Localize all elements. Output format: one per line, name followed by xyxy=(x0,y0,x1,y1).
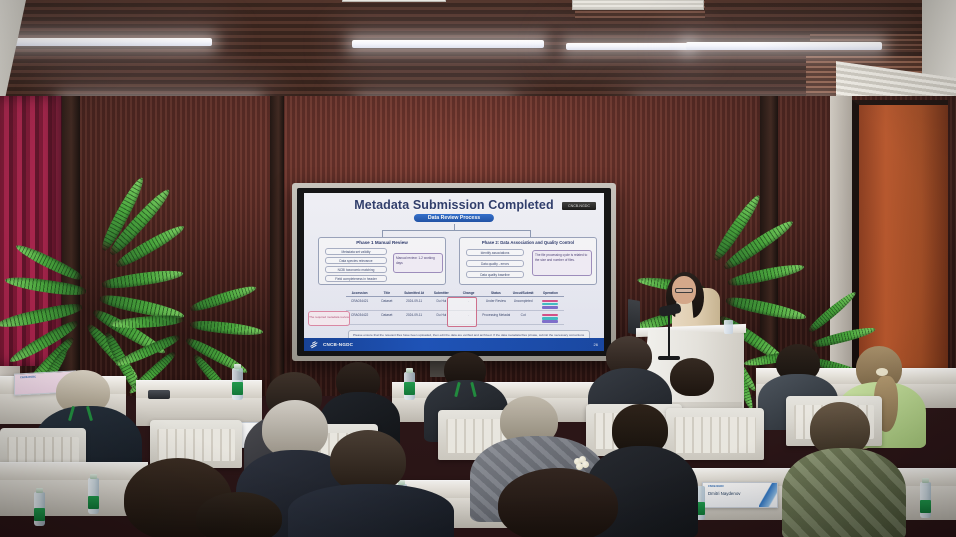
action-badge[interactable] xyxy=(542,320,558,323)
table-cell: Processing Metadata xyxy=(482,311,509,325)
slide-phase2-item: Data quality - errors xyxy=(466,260,524,267)
presentation-display[interactable]: Metadata Submission Completed CNCB-NGDC … xyxy=(292,183,616,361)
attendee-shoulders xyxy=(288,484,454,537)
action-badge[interactable] xyxy=(542,314,558,317)
slide-phase2-item: Data quality baseline xyxy=(466,271,524,278)
table-cell: 2024-09-11 xyxy=(401,297,428,311)
water-bottle-cap xyxy=(234,364,241,369)
lanyard xyxy=(70,406,92,420)
slide-phase2-heading: Phase 2: Data Association and Quality Co… xyxy=(460,240,596,245)
table-col-header: Submitter xyxy=(428,289,455,297)
table-cell: Cut xyxy=(510,311,537,325)
water-bottle-cap xyxy=(90,474,97,479)
namecard-org: CNCB-NGDC xyxy=(20,375,36,379)
table-col-header: Accession xyxy=(346,289,373,297)
slide-phase1-note: Manual review: 1-2 working days xyxy=(393,253,443,273)
slide-phase1-heading: Phase 1 Manual Review xyxy=(319,240,445,245)
slide-canvas: Metadata Submission Completed CNCB-NGDC … xyxy=(304,193,604,351)
table-cell-actions xyxy=(537,311,564,325)
row-action-badges[interactable] xyxy=(537,313,564,323)
ceiling-light xyxy=(0,38,212,46)
slide-phase1-item: Field completeness in header xyxy=(325,275,387,282)
table-cell: Dataset xyxy=(373,311,400,325)
water-glass xyxy=(724,320,733,334)
slide-section-pill: Data Review Process xyxy=(414,214,494,222)
hair-tie xyxy=(876,368,888,376)
namecard-org: CNCB-NGDC xyxy=(708,485,724,488)
eyeglasses-icon xyxy=(675,288,693,293)
action-badge[interactable] xyxy=(542,300,558,303)
slide-phase1-box: Phase 1 Manual Review Metadata set valid… xyxy=(318,237,446,285)
slide-phase1-item: Metadata set validity xyxy=(325,248,387,255)
slide-connector xyxy=(382,230,530,231)
water-bottle-cap xyxy=(36,488,43,493)
slide-phase2-box: Phase 2: Data Association and Quality Co… xyxy=(459,237,597,285)
slide-title-tag: CNCB-NGDC xyxy=(562,202,596,210)
water-bottle-cap xyxy=(922,478,929,483)
slide-phase1-item: Data species relevance xyxy=(325,257,387,264)
row-action-badges[interactable] xyxy=(537,299,564,309)
slide-phase2-note: The file processing cycle is related to … xyxy=(532,250,592,276)
attendee-head xyxy=(330,430,406,492)
table-col-header: Operation xyxy=(537,289,564,297)
smartphone[interactable] xyxy=(148,390,170,399)
attendee-head xyxy=(196,492,282,537)
hair-flower xyxy=(574,456,589,470)
attendee-shoulders xyxy=(782,448,906,537)
table-col-header: Uncut/Submit xyxy=(510,289,537,297)
slide-page-number: 26 xyxy=(594,342,598,347)
table-cell-actions xyxy=(537,297,564,311)
display-bezel: Metadata Submission Completed CNCB-NGDC … xyxy=(297,188,611,356)
water-bottle xyxy=(920,482,931,518)
ceiling-light xyxy=(352,40,544,48)
table-col-header: Status xyxy=(482,289,509,297)
ceiling-edge-left xyxy=(0,0,26,100)
ceiling-light xyxy=(566,43,690,50)
slide-connector xyxy=(382,230,383,237)
water-bottle-cap xyxy=(406,368,413,373)
slide-phase2-item: Identify associations xyxy=(466,249,524,256)
table-col-header: Change xyxy=(455,289,482,297)
water-bottle xyxy=(232,368,243,400)
action-badge[interactable] xyxy=(542,303,558,306)
chair[interactable] xyxy=(666,408,764,460)
ceiling-air-vent xyxy=(572,0,704,10)
water-bottle xyxy=(34,492,45,526)
namecard-swoosh xyxy=(759,482,778,508)
ceiling-light xyxy=(686,42,882,50)
table-cell: 2024-09-11 xyxy=(401,311,428,325)
namecard-name: Dmitri Naydenov xyxy=(708,491,740,496)
table-cell: Uncompleted xyxy=(510,297,537,311)
water-bottle xyxy=(404,372,415,400)
ngdc-logo-icon xyxy=(310,340,319,349)
action-badge[interactable] xyxy=(542,317,558,320)
slide-footer-brand: CNCB-NGDC xyxy=(323,342,353,347)
conference-room-photo: Metadata Submission Completed CNCB-NGDC … xyxy=(0,0,956,537)
slide-title: Metadata Submission Completed xyxy=(304,198,604,212)
ceiling-air-vent xyxy=(342,0,446,2)
table-cell: Under Review xyxy=(482,297,509,311)
ceiling xyxy=(0,0,956,100)
table-header-row: Accession Title Submitted At Submitter C… xyxy=(346,289,564,297)
attendee-head xyxy=(670,358,714,396)
slide-phase1-item: NCBI taxonomic matching xyxy=(325,266,387,273)
slide-highlight-callout: The required metadata review xyxy=(308,311,350,326)
table-cell: CRA034422 xyxy=(346,311,373,325)
lanyard xyxy=(456,382,478,396)
table-col-header: Submitted At xyxy=(401,289,428,297)
microphone-base xyxy=(658,356,680,360)
slide-highlight-cell xyxy=(447,297,477,327)
table-cell: Dataset xyxy=(373,297,400,311)
desk-row2 xyxy=(0,462,148,480)
slide-footer: CNCB-NGDC 26 xyxy=(304,338,604,351)
action-badge[interactable] xyxy=(542,306,558,309)
table-col-header: Title xyxy=(373,289,400,297)
table-cell: CRA034421 xyxy=(346,297,373,311)
water-bottle xyxy=(88,478,99,514)
namecard: CNCB-NGDC Dmitri Naydenov xyxy=(702,482,778,508)
slide-connector xyxy=(530,230,531,237)
attendee-head xyxy=(498,468,618,537)
microphone-stand xyxy=(668,312,670,360)
